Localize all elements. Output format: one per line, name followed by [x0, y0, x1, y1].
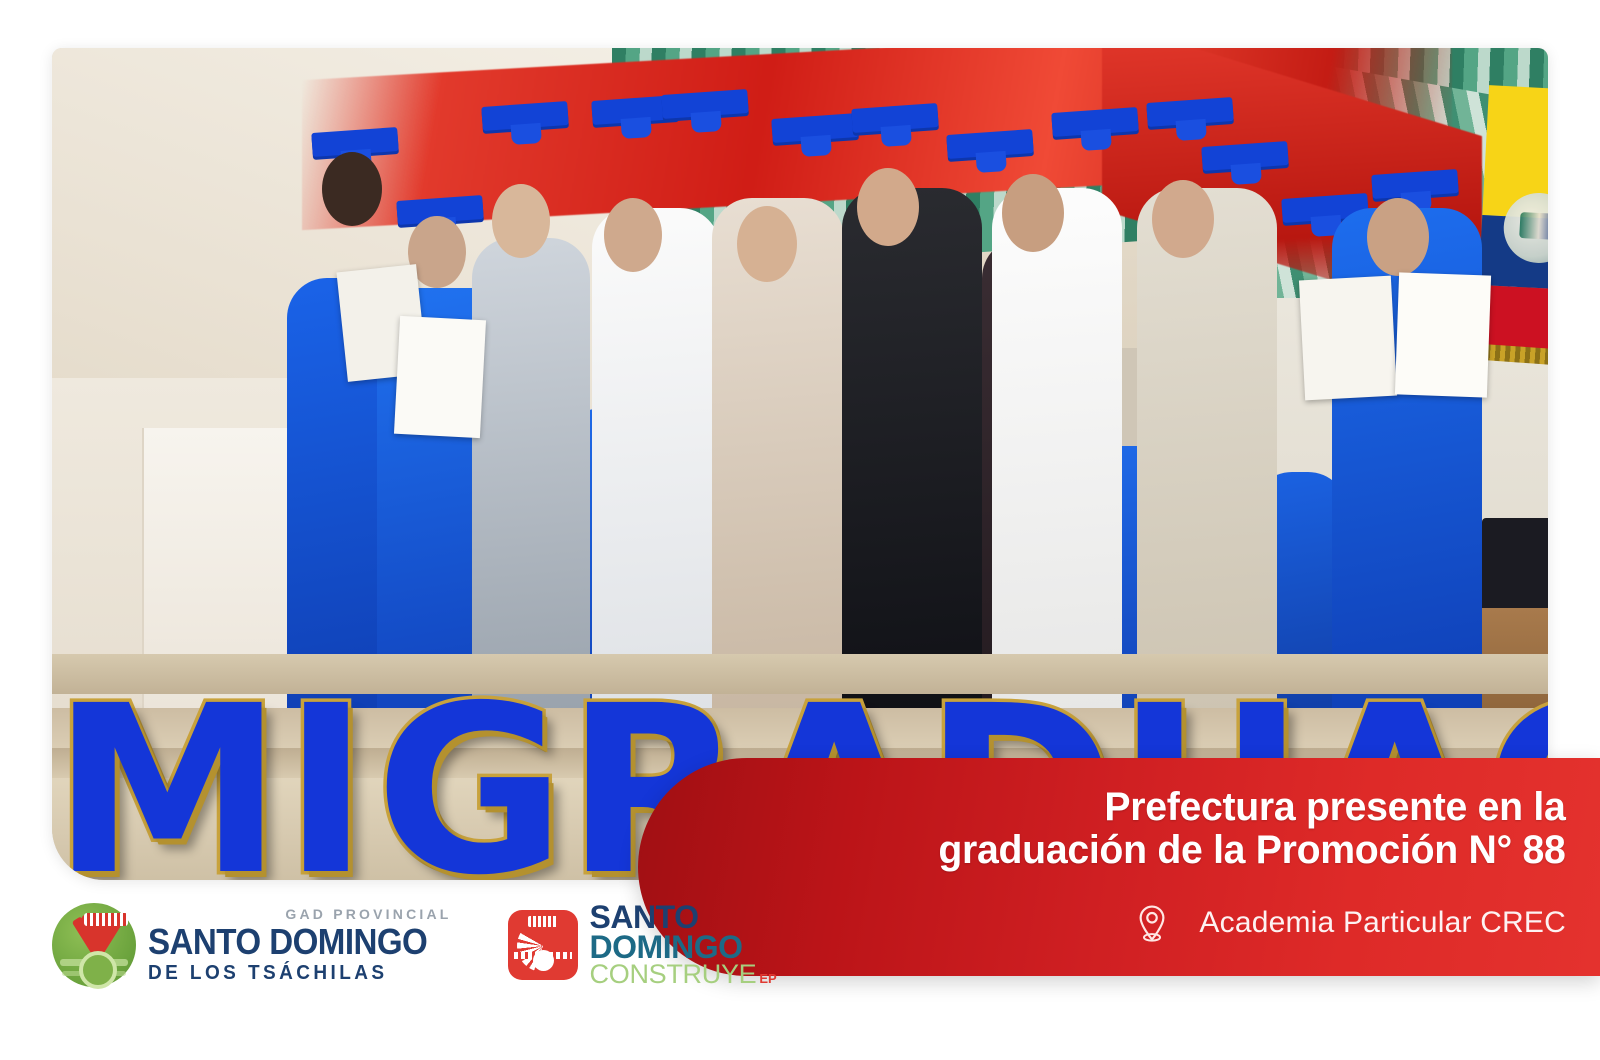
people-group	[192, 88, 1482, 708]
location-text: Academia Particular CREC	[1199, 906, 1566, 940]
logo-santo-domingo-construye: SANTO DOMINGO CONSTRUYE EP	[508, 903, 777, 987]
headline-line-2: graduación de la Promoción N° 88	[939, 829, 1566, 872]
logo-bar: GAD PROVINCIAL SANTO DOMINGO DE LOS TSÁC…	[52, 895, 777, 995]
sign-letter: M	[52, 692, 277, 880]
gad-provincial-seal-icon	[52, 903, 136, 987]
construye-line-3: CONSTRUYE	[590, 962, 757, 987]
gad-eyebrow: GAD PROVINCIAL	[148, 907, 452, 921]
gad-name: SANTO DOMINGO	[148, 924, 427, 960]
construye-line-2: DOMINGO	[590, 933, 777, 962]
headline-line-1: Prefectura presente en la	[939, 786, 1566, 829]
headline-text: Prefectura presente en la graduación de …	[939, 786, 1566, 872]
construye-line-3-row: CONSTRUYE EP	[590, 962, 777, 987]
logo-gad-provincial: GAD PROVINCIAL SANTO DOMINGO DE LOS TSÁC…	[52, 903, 452, 987]
headline-banner: Prefectura presente en la graduación de …	[638, 758, 1600, 976]
construye-suffix: EP	[759, 973, 776, 985]
location-row: Academia Particular CREC	[1131, 902, 1566, 944]
location-pin-icon	[1131, 902, 1173, 944]
gad-subtitle: DE LOS TSÁCHILAS	[148, 963, 436, 983]
sign-letter: G	[375, 692, 559, 880]
event-photo: M I G R A D U A C I O N	[52, 48, 1548, 880]
sign-letter: I	[283, 692, 363, 880]
page-canvas: M I G R A D U A C I O N Prefectura prese…	[0, 0, 1600, 1060]
monitor	[1482, 518, 1548, 613]
santo-domingo-construye-seal-icon	[508, 910, 578, 980]
photo-scene: M I G R A D U A C I O N	[52, 48, 1548, 880]
